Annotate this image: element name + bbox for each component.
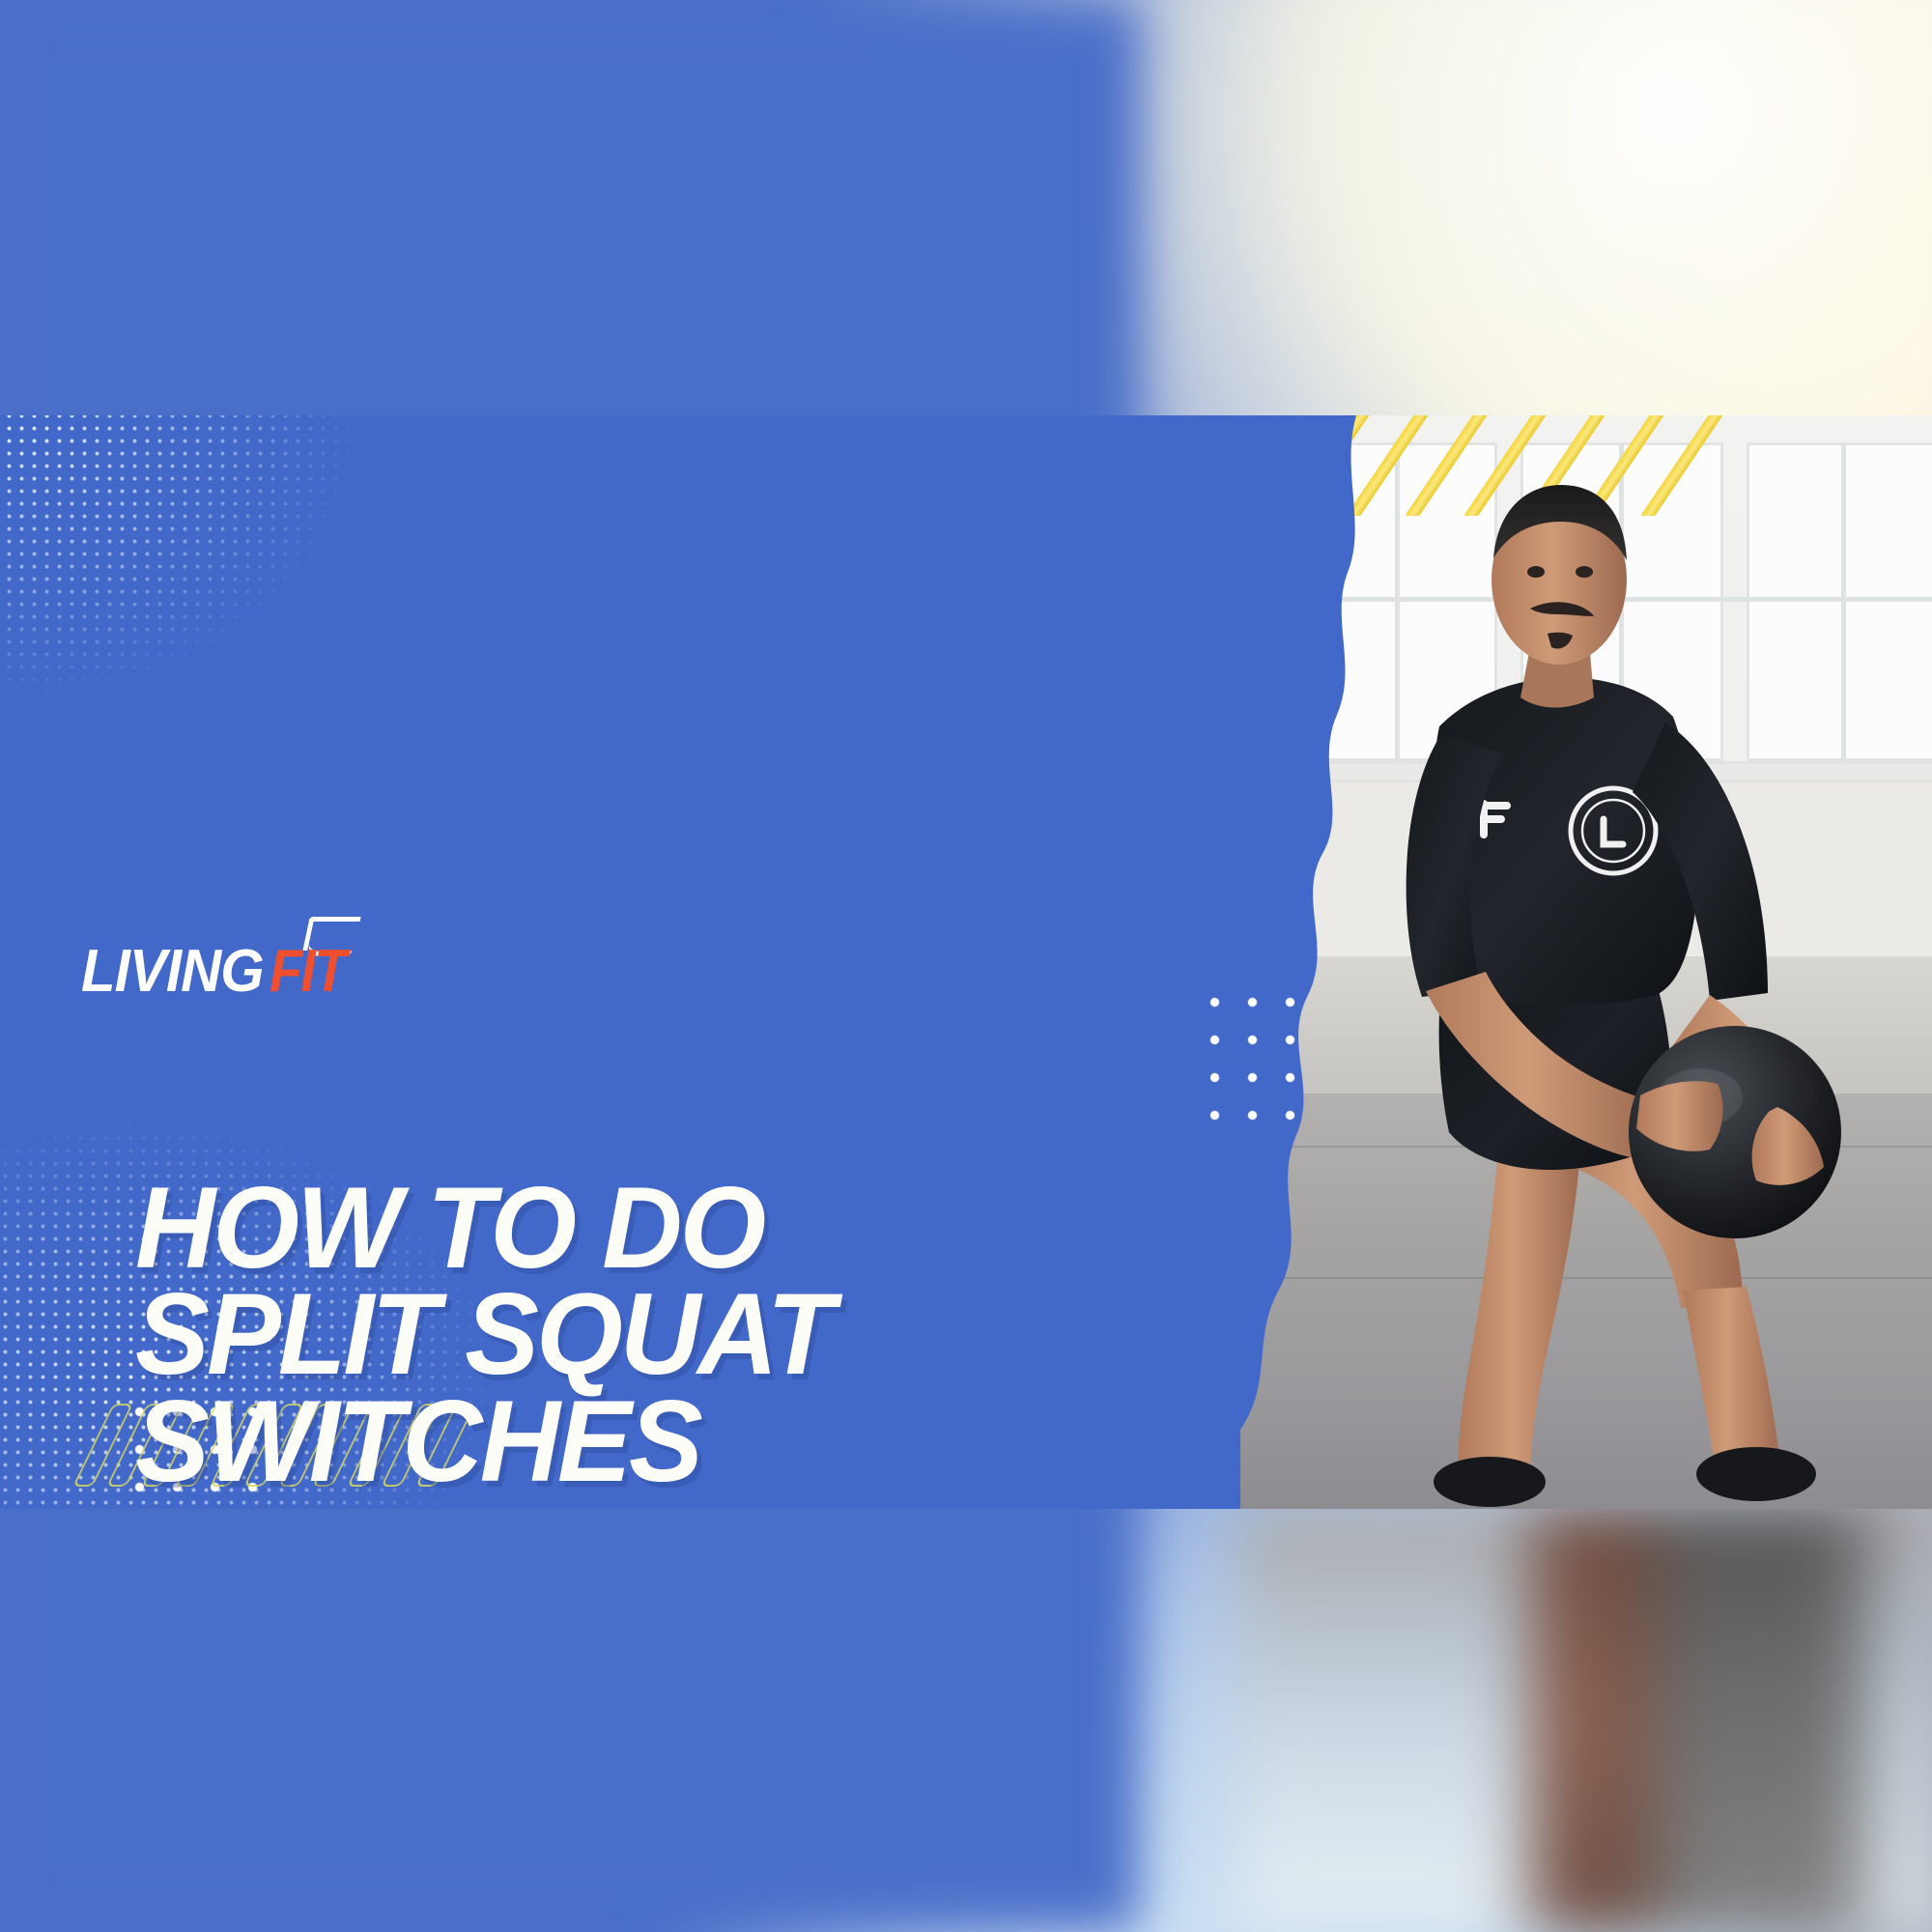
headline-line-3: SWITCHES — [135, 1388, 1099, 1494]
thumbnail-card: LIVING FIT HOW TO DO SPLIT SQUAT SWITCHE… — [0, 415, 1932, 1509]
athlete-eye-right — [1576, 566, 1593, 578]
headline-block: HOW TO DO SPLIT SQUAT SWITCHES WITH SLAM… — [135, 1175, 1140, 1509]
athlete-front-shin — [1683, 1287, 1781, 1474]
living-fit-logo-word: LIVING — [81, 942, 264, 1002]
living-fit-logo[interactable]: LIVING FIT — [81, 942, 354, 1002]
athlete-figure — [1240, 415, 1932, 1509]
halftone-gradient-top-left — [0, 415, 609, 864]
athlete-photo: LIVING FIT — [1240, 415, 1932, 1509]
thumbnail-stage: LIVING FIT HOW TO DO SPLIT SQUAT SWITCHE… — [0, 0, 1932, 1932]
headline-subtitle: WITH SLAM BALLS — [135, 1508, 1090, 1509]
headline-line-1: HOW TO DO — [135, 1175, 1099, 1281]
athlete-rear-leg — [1458, 1132, 1580, 1482]
athlete-rear-shoe — [1434, 1457, 1546, 1507]
headline-line-2: SPLIT SQUAT — [135, 1281, 1099, 1387]
athlete-front-shoe — [1696, 1447, 1816, 1501]
ribbon-stripe — [72, 1404, 133, 1487]
spill-shadow — [1646, 1509, 1868, 1932]
athlete-eye-left — [1527, 566, 1545, 578]
photo-bottom-spill — [1240, 1509, 1932, 1932]
living-fit-logo-accent: FIT — [270, 942, 345, 1002]
